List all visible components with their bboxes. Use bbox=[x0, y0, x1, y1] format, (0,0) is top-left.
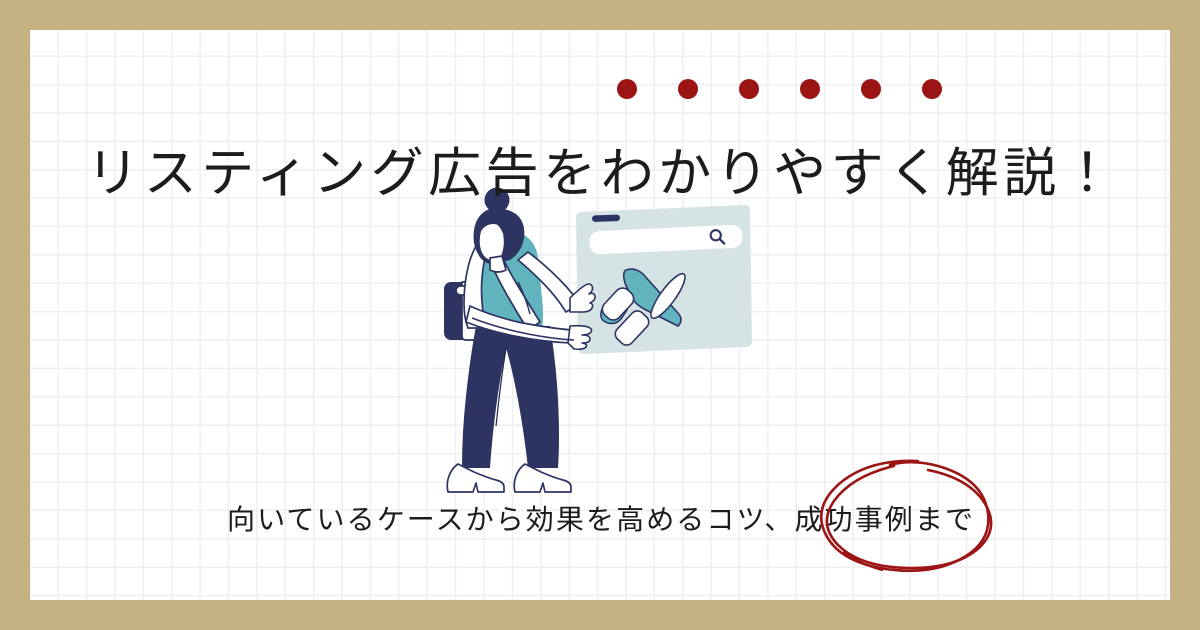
decorative-dot bbox=[861, 79, 881, 99]
decorative-dot bbox=[922, 79, 942, 99]
headline-title: リスティング広告をわかりやすく解説！ bbox=[0, 143, 1200, 206]
decorative-dot bbox=[739, 79, 759, 99]
woman-shoes bbox=[447, 464, 571, 492]
decorative-dot bbox=[800, 79, 820, 99]
subtitle-text: 向いているケースから効果を高めるコツ、成功事例まで bbox=[225, 503, 975, 537]
decorative-dot-row bbox=[617, 79, 942, 99]
eyecatch-canvas: リスティング広告をわかりやすく解説！ ショルダーバッグを提げた女性が、検索バーと… bbox=[0, 0, 1200, 630]
subtitle-row: 向いているケースから効果を高めるコツ、成功事例まで bbox=[0, 503, 1200, 537]
browser-title-bar-pill bbox=[592, 214, 620, 222]
hero-illustration: ショルダーバッグを提げた女性が、検索バーとメガホンが表示されたブラウザ画面を指さ… bbox=[432, 186, 772, 496]
decorative-dot bbox=[678, 79, 698, 99]
woman-trousers bbox=[462, 326, 559, 468]
decorative-dot bbox=[617, 79, 637, 99]
